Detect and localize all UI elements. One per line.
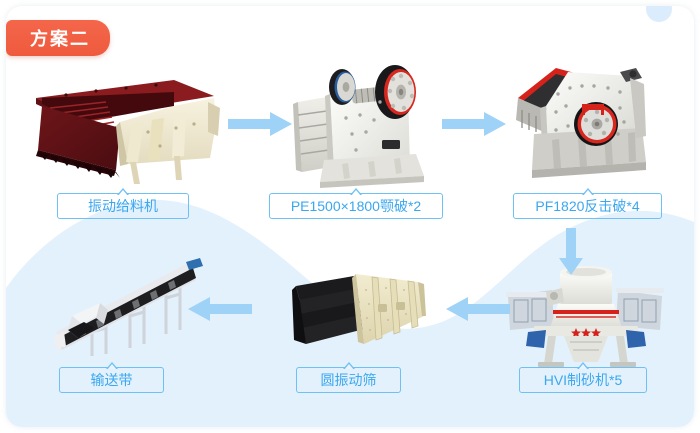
impact-crusher-image xyxy=(512,54,668,190)
label-impact-crusher[interactable]: PF1820反击破*4 xyxy=(513,193,662,219)
jaw-crusher-image xyxy=(290,60,440,188)
conveyor-belt-image xyxy=(48,258,208,370)
label-vibrating-feeder[interactable]: 振动给料机 xyxy=(57,193,189,219)
arrow-feeder-to-jaw xyxy=(228,111,294,137)
arrow-impact-to-sandmaker xyxy=(558,228,584,276)
decorative-dot xyxy=(646,6,672,22)
label-sand-maker[interactable]: HVI制砂机*5 xyxy=(519,367,647,393)
plan-badge: 方案二 xyxy=(6,20,110,56)
hvi-sand-making-machine-image xyxy=(498,258,674,370)
caret-up-icon xyxy=(350,188,362,195)
caret-up-icon xyxy=(343,362,355,369)
arrow-sandmaker-to-screen xyxy=(444,296,510,322)
caret-up-icon xyxy=(577,362,589,369)
flow-diagram-stage: 方案二 xyxy=(0,0,700,433)
caret-up-icon xyxy=(582,188,594,195)
caret-up-icon xyxy=(117,188,129,195)
content-panel: 方案二 xyxy=(6,6,694,427)
caret-up-icon xyxy=(106,362,118,369)
label-vibrating-screen[interactable]: 圆振动筛 xyxy=(296,367,401,393)
circular-vibrating-screen-image xyxy=(280,260,438,364)
arrow-jaw-to-impact xyxy=(442,111,508,137)
vibrating-feeder-image xyxy=(24,62,224,194)
label-jaw-crusher[interactable]: PE1500×1800颚破*2 xyxy=(269,193,443,219)
label-conveyor-belt[interactable]: 输送带 xyxy=(59,367,164,393)
plan-badge-label: 方案二 xyxy=(30,25,90,51)
arrow-screen-to-conveyor xyxy=(186,296,252,322)
